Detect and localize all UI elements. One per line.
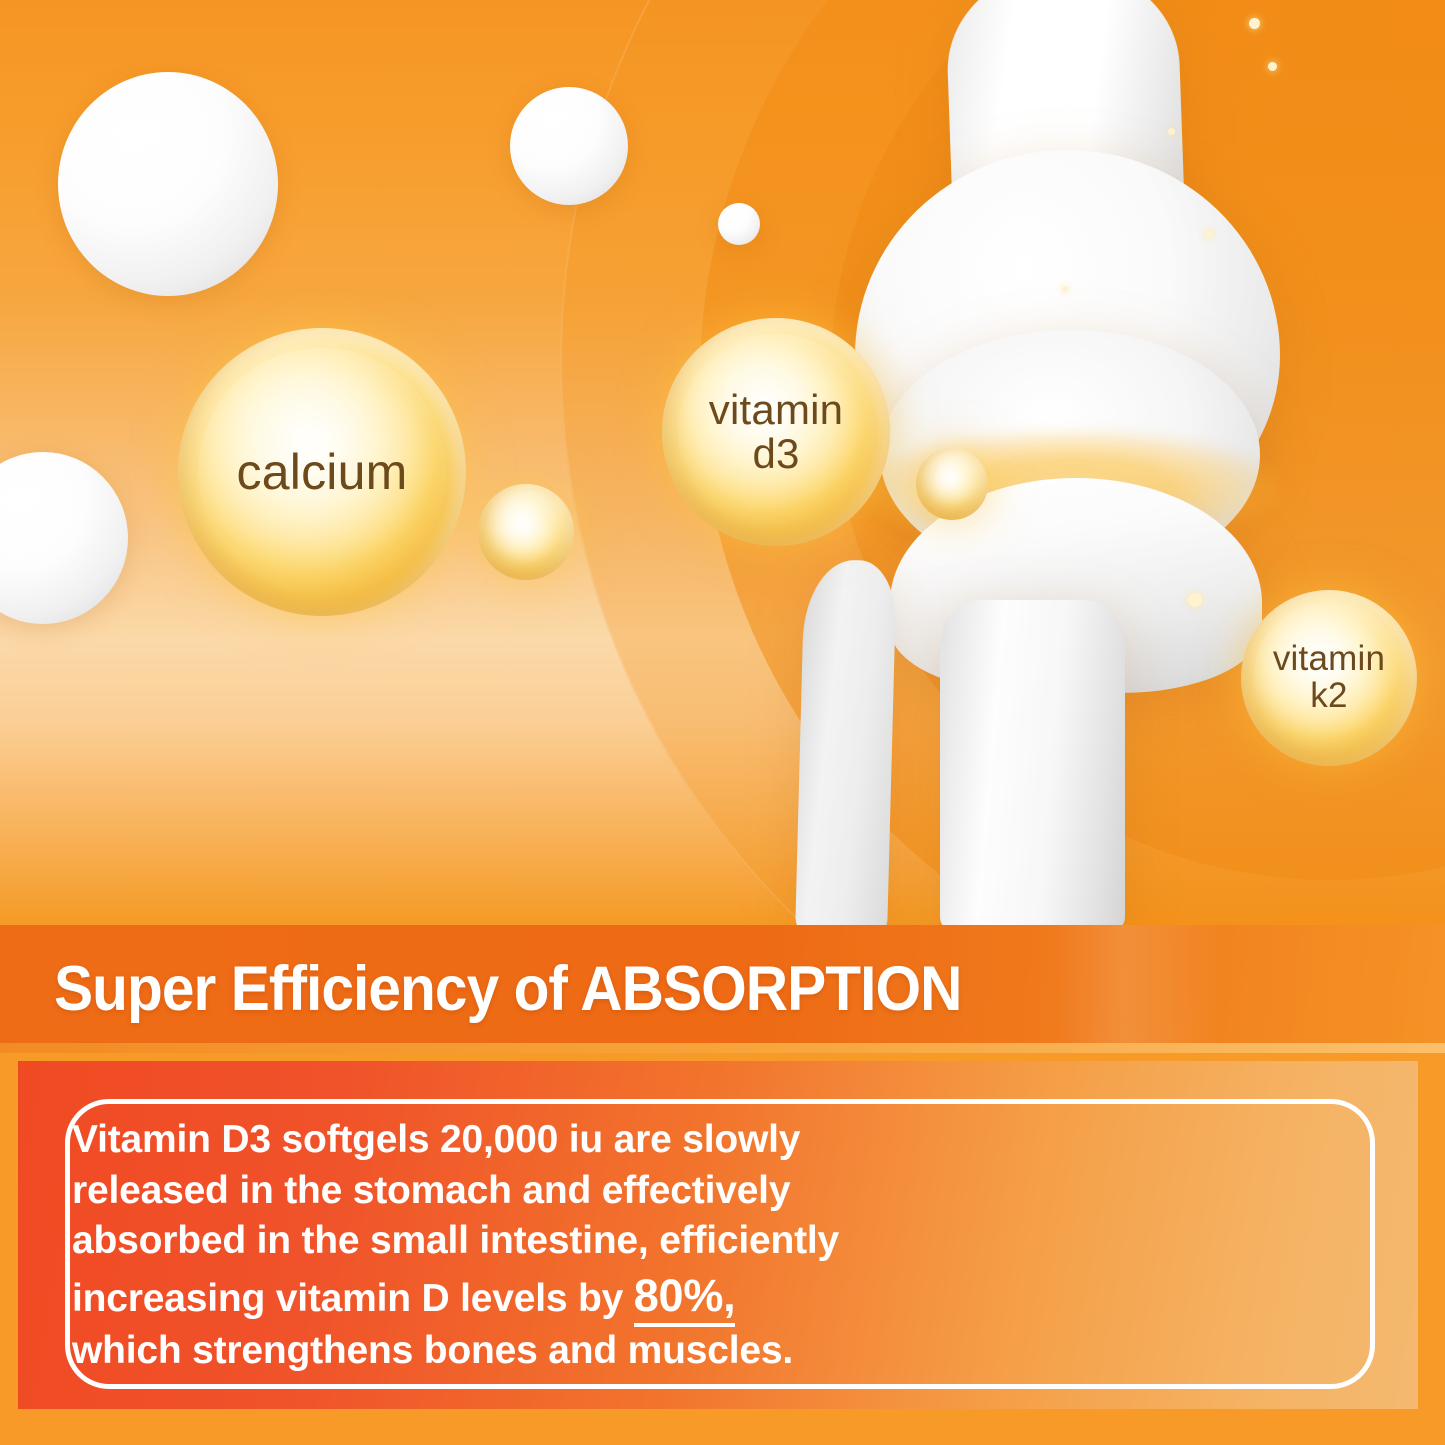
pearl-bubble-medium <box>510 87 628 205</box>
oil-bubble-small-knee <box>916 448 988 520</box>
sparkle-dot <box>1249 18 1260 29</box>
info-line-4-prefix: increasing vitamin D levels by <box>72 1277 634 1320</box>
info-line-5: which strengthens bones and muscles. <box>72 1326 872 1377</box>
info-line-2: released in the stomach and effectively <box>72 1166 872 1217</box>
sparkle-dot <box>1268 62 1277 71</box>
bubble-calcium-label: calcium <box>237 446 408 499</box>
sparkle-dot <box>1188 593 1202 607</box>
bubble-k2-line1: vitamin <box>1273 639 1385 678</box>
tibia-shaft <box>940 600 1125 925</box>
pearl-bubble-edge <box>0 452 128 624</box>
info-panel-wrapper: Vitamin D3 softgels 20,000 iu are slowly… <box>0 1053 1445 1445</box>
oil-bubble-small-left <box>478 484 574 580</box>
bubble-vitamin-k2-label: vitamin k2 <box>1273 641 1385 715</box>
pearl-bubble-large <box>58 72 278 296</box>
absorption-highlight: 80%, <box>634 1270 736 1327</box>
sparkle-dot <box>1168 128 1175 135</box>
info-line-1: Vitamin D3 softgels 20,000 iu are slowly <box>72 1115 872 1166</box>
fibula-bone <box>795 559 897 925</box>
bubble-k2-line2: k2 <box>1310 676 1347 715</box>
bubble-vitamin-d3-label: vitamin d3 <box>709 388 843 476</box>
product-infographic: calcium vitamin d3 vitamin k2 Super Effi… <box>0 0 1445 1445</box>
banner-underline <box>0 1043 1445 1053</box>
bubble-vitamin-k2[interactable]: vitamin k2 <box>1241 590 1417 766</box>
banner-sheen <box>1050 925 1220 1053</box>
sparkle-dot <box>1062 286 1068 292</box>
bubble-calcium[interactable]: calcium <box>178 328 466 616</box>
hero-section: calcium vitamin d3 vitamin k2 <box>0 0 1445 925</box>
info-line-3: absorbed in the small intestine, efficie… <box>72 1216 872 1267</box>
info-panel-text: Vitamin D3 softgels 20,000 iu are slowly… <box>72 1115 872 1376</box>
info-line-4: increasing vitamin D levels by 80%, <box>72 1267 872 1326</box>
headline-banner: Super Efficiency of ABSORPTION <box>0 925 1445 1053</box>
bubble-d3-line2: d3 <box>752 430 799 477</box>
bubble-d3-line1: vitamin <box>709 386 843 433</box>
bubble-vitamin-d3[interactable]: vitamin d3 <box>662 318 890 546</box>
pearl-bubble-small <box>718 203 760 245</box>
sparkle-dot <box>1205 230 1213 238</box>
banner-title: Super Efficiency of ABSORPTION <box>54 953 962 1025</box>
